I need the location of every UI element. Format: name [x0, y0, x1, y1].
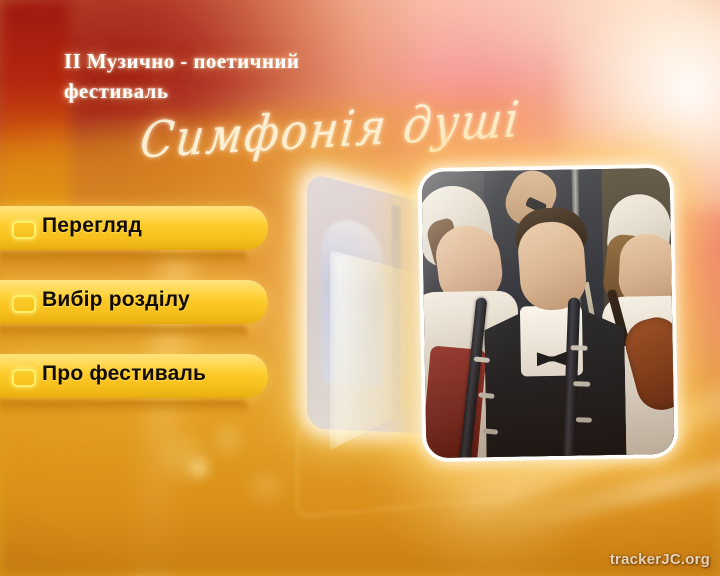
rounded-rect-bullet-icon: [12, 369, 36, 387]
rounded-rect-bullet-icon: [12, 221, 36, 239]
menu-item-play-shadow: [0, 252, 248, 266]
menu-item-about-festival-shadow: [0, 400, 248, 414]
main-menu: Перегляд Вибір розділу Про фестиваль: [0, 206, 330, 428]
menu-item-play[interactable]: Перегляд: [0, 206, 330, 258]
site-watermark: trackerJC.org: [610, 551, 710, 568]
video-preview-panel[interactable]: [422, 168, 675, 458]
festival-title-line-1: II Музично - поетичний: [64, 46, 464, 76]
menu-item-scene-selection-label: Вибір розділу: [42, 288, 190, 312]
dvd-menu-screen: II Музично - поетичний фестиваль Симфоні…: [0, 0, 720, 576]
menu-item-scene-selection[interactable]: Вибір розділу: [0, 280, 330, 332]
menu-item-scene-selection-shadow: [0, 326, 248, 340]
ghost-panel-figure: [322, 214, 383, 387]
photo-glass-sheen: [422, 168, 675, 458]
menu-item-about-festival[interactable]: Про фестиваль: [0, 354, 330, 406]
menu-item-play-label: Перегляд: [42, 214, 142, 238]
menu-item-about-festival-label: Про фестиваль: [42, 362, 206, 386]
ghost-panel-stripe-1: [392, 205, 401, 416]
rounded-rect-bullet-icon: [12, 295, 36, 313]
